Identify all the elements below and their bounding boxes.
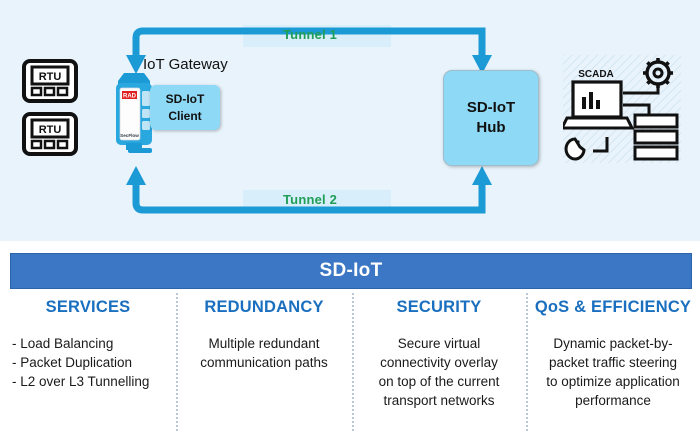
scada-icon: SCADA [563,55,681,163]
rtu-label-1: RTU [39,71,62,83]
feature-item: communication paths [200,353,328,372]
feature-item: performance [546,391,680,410]
feature-item: - Load Balancing [12,334,149,353]
sd-iot-hub-box: SD-IoT Hub [443,70,539,166]
sd-iot-hub-line2: Hub [476,118,505,138]
feature-heading-redundancy: REDUNDANCY [204,298,323,317]
sd-iot-client-callout: SD-IoT Client [150,85,220,130]
feature-column-qos-efficiency: QoS & EFFICIENCY Dynamic packet-by- pack… [526,295,700,433]
sd-iot-hub-line1: SD-IoT [467,98,515,118]
rtu-device-2: RTU [22,112,78,156]
feature-item: Multiple redundant [200,334,328,353]
feature-heading-security: SECURITY [396,298,481,317]
scada-group: SCADA [563,55,681,163]
rtu-icon: RTU [22,112,78,156]
feature-body-qos-efficiency: Dynamic packet-by- packet traffic steeri… [546,334,680,411]
feature-item: - L2 over L3 Tunnelling [12,372,149,391]
scada-label: SCADA [578,69,614,80]
feature-heading-qos-efficiency: QoS & EFFICIENCY [535,298,691,317]
rtu-label-2: RTU [39,124,62,136]
rtu-device-1: RTU [22,59,78,103]
feature-item: packet traffic steering [546,353,680,372]
feature-item: connectivity overlay [379,353,500,372]
sd-iot-infographic: Tunnel 1 Tunnel 2 RTU RTU [0,0,700,433]
tunnel-2-label: Tunnel 2 [283,192,337,207]
feature-item: on top of the current [379,372,500,391]
feature-body-security: Secure virtual connectivity overlay on t… [379,334,500,411]
feature-column-redundancy: REDUNDANCY Multiple redundant communicat… [176,295,352,433]
feature-body-redundancy: Multiple redundant communication paths [200,334,328,372]
tunnel-1-label: Tunnel 1 [283,27,337,42]
feature-item: Dynamic packet-by- [546,334,680,353]
feature-item: to optimize application [546,372,680,391]
feature-columns: SERVICES - Load Balancing - Packet Dupli… [0,295,700,433]
sd-iot-banner: SD-IoT [10,253,692,289]
column-divider [176,293,178,431]
rtu-icon: RTU [22,59,78,103]
feature-item: - Packet Duplication [12,353,149,372]
iot-gateway-label: IoT Gateway [143,56,228,73]
feature-heading-services: SERVICES [46,298,131,317]
feature-column-services: SERVICES - Load Balancing - Packet Dupli… [0,295,176,433]
feature-item: Secure virtual [379,334,500,353]
banner-title: SD-IoT [319,260,382,282]
feature-body-services: - Load Balancing - Packet Duplication - … [6,334,149,391]
column-divider [352,293,354,431]
column-divider [526,293,528,431]
feature-column-security: SECURITY Secure virtual connectivity ove… [352,295,526,433]
sd-iot-client-line1: SD-IoT [166,91,205,107]
sd-iot-client-line2: Client [168,108,201,124]
gateway-model-text: SecFlow [120,133,139,138]
feature-item: transport networks [379,391,500,410]
rad-logo-text: RAD [123,94,137,100]
network-diagram-panel: Tunnel 1 Tunnel 2 RTU RTU [0,0,700,241]
